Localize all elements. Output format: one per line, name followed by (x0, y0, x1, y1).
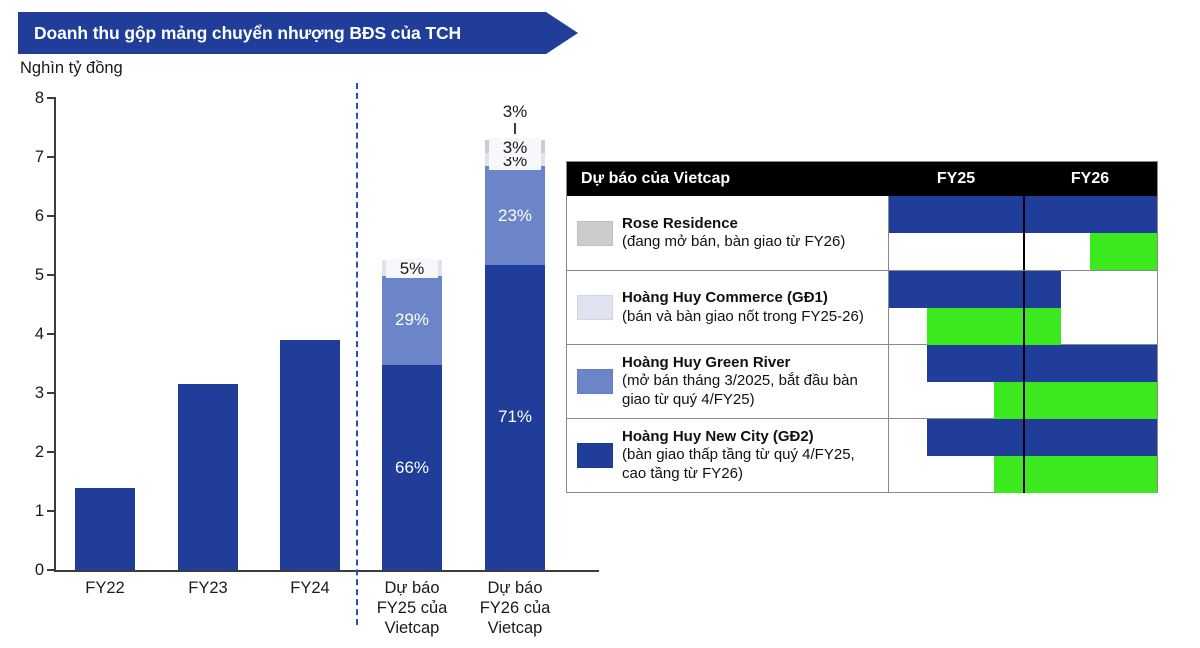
bar-segment (280, 340, 340, 570)
x-axis-label-line: FY22 (50, 578, 160, 598)
y-axis-unit-label: Nghìn tỷ đồng (20, 59, 123, 78)
fy-column-divider (1023, 419, 1025, 493)
table-cell-description: Hoàng Huy Commerce (GĐ1)(bán và bàn giao… (567, 271, 889, 344)
forecast-divider-dashed-line (356, 83, 358, 625)
legend-swatch (577, 443, 613, 468)
bar-segment-label: 71% (485, 408, 545, 425)
project-description: Hoàng Huy Commerce (GĐ1)(bán và bàn giao… (622, 289, 864, 326)
x-axis-category-label: Dự báoFY25 củaVietcap (357, 578, 467, 638)
timeline-bar-handover (1090, 233, 1157, 270)
project-description: Hoàng Huy New City (GĐ2)(bàn giao thấp t… (622, 428, 880, 483)
table-header-fy25: FY25 (889, 162, 1023, 196)
x-axis-line (54, 570, 599, 572)
project-note: (mở bán tháng 3/2025, bắt đầu bàn giao t… (622, 372, 880, 409)
table-header-row: Dự báo của Vietcap FY25 FY26 (567, 162, 1157, 196)
table-cell-description: Rose Residence(đang mở bán, bàn giao từ … (567, 196, 889, 270)
y-axis-tick-label: 7 (18, 149, 44, 166)
x-axis-label-line: FY25 của (357, 598, 467, 618)
y-axis-tick-mark (47, 156, 56, 158)
y-axis-tick-mark (47, 333, 56, 335)
timeline-bar-handover (927, 308, 1061, 345)
x-axis-category-label: FY22 (50, 578, 160, 598)
y-axis-tick-mark (47, 510, 56, 512)
project-name: Hoàng Huy Commerce (GĐ1) (622, 289, 864, 307)
timeline-bar-sales (889, 271, 1061, 308)
project-name: Hoàng Huy New City (GĐ2) (622, 428, 880, 446)
x-axis-label-line: Vietcap (460, 618, 570, 638)
project-note: (đang mở bán, bàn giao từ FY26) (622, 233, 845, 251)
y-axis-tick-label: 4 (18, 326, 44, 343)
project-name: Hoàng Huy Green River (622, 354, 880, 372)
table-cell-timeline (889, 345, 1157, 419)
table-cell-timeline (889, 196, 1157, 270)
table-cell-description: Hoàng Huy Green River(mở bán tháng 3/202… (567, 345, 889, 418)
bar-segment (75, 488, 135, 570)
bar-segment-label: 5% (386, 259, 438, 278)
timeline-bar-sales (927, 345, 1157, 382)
table-header-fy26: FY26 (1023, 162, 1157, 196)
x-axis-label-line: FY23 (153, 578, 263, 598)
table-cell-timeline (889, 271, 1157, 345)
fy-column-divider (1023, 345, 1025, 419)
y-axis-tick-mark (47, 97, 56, 99)
x-axis-label-line: Vietcap (357, 618, 467, 638)
table-cell-timeline (889, 419, 1157, 493)
bar-callout-label: 3% (475, 103, 555, 120)
y-axis-tick-label: 1 (18, 503, 44, 520)
y-axis-tick-mark (47, 274, 56, 276)
legend-swatch (577, 295, 613, 320)
bar-column (75, 98, 135, 570)
bar-segment-label: 3% (489, 138, 541, 157)
bar-column: 66%29%5% (382, 98, 442, 570)
y-axis-tick-mark (47, 569, 56, 571)
y-axis-tick-label: 5 (18, 267, 44, 284)
bar-column (280, 98, 340, 570)
y-axis-tick-label: 6 (18, 208, 44, 225)
table-row: Hoàng Huy Green River(mở bán tháng 3/202… (567, 344, 1157, 418)
y-axis-tick-mark (47, 392, 56, 394)
y-axis-tick-label: 2 (18, 444, 44, 461)
timeline-bar-handover (994, 456, 1157, 493)
project-name: Rose Residence (622, 215, 845, 233)
x-axis-category-label: FY24 (255, 578, 365, 598)
legend-swatch (577, 369, 613, 394)
bar-segment (178, 384, 238, 570)
y-axis-tick-label: 3 (18, 385, 44, 402)
y-axis-tick-label: 8 (18, 90, 44, 107)
x-axis-label-line: FY26 của (460, 598, 570, 618)
project-note: (bán và bàn giao nốt trong FY25-26) (622, 308, 864, 326)
x-axis-category-label: Dự báoFY26 củaVietcap (460, 578, 570, 638)
callout-leader-line (514, 123, 516, 134)
table-cell-description: Hoàng Huy New City (GĐ2)(bàn giao thấp t… (567, 419, 889, 492)
bar-segment-label: 23% (485, 207, 545, 224)
table-row: Hoàng Huy New City (GĐ2)(bàn giao thấp t… (567, 418, 1157, 492)
project-note: (bàn giao thấp tầng từ quý 4/FY25, cao t… (622, 446, 880, 483)
bar-column: 71%23%3%3%3% (485, 98, 545, 570)
x-axis-category-label: FY23 (153, 578, 263, 598)
table-header-description: Dự báo của Vietcap (567, 162, 889, 196)
bar-segment-label: 66% (382, 459, 442, 476)
table-row: Hoàng Huy Commerce (GĐ1)(bán và bàn giao… (567, 270, 1157, 344)
x-axis-label-line: Dự báo (357, 578, 467, 598)
y-axis-tick-label: 0 (18, 562, 44, 579)
bar-segment-label: 29% (382, 311, 442, 328)
fy-column-divider (1023, 196, 1025, 270)
y-axis-tick-mark (47, 215, 56, 217)
bar-chart: Nghìn tỷ đồng 012345678 66%29%5%71%23%3%… (0, 0, 600, 648)
x-axis-label-line: FY24 (255, 578, 365, 598)
bar-column (178, 98, 238, 570)
project-description: Rose Residence(đang mở bán, bàn giao từ … (622, 215, 845, 252)
x-axis-label-line: Dự báo (460, 578, 570, 598)
table-row: Rose Residence(đang mở bán, bàn giao từ … (567, 196, 1157, 270)
legend-swatch (577, 221, 613, 246)
y-axis-tick-mark (47, 451, 56, 453)
forecast-table: Dự báo của Vietcap FY25 FY26 Rose Reside… (566, 161, 1158, 493)
timeline-bar-handover (994, 382, 1157, 419)
project-description: Hoàng Huy Green River(mở bán tháng 3/202… (622, 354, 880, 409)
timeline-bar-sales (927, 419, 1157, 456)
fy-column-divider (1023, 271, 1025, 345)
table-body: Rose Residence(đang mở bán, bàn giao từ … (567, 196, 1157, 492)
